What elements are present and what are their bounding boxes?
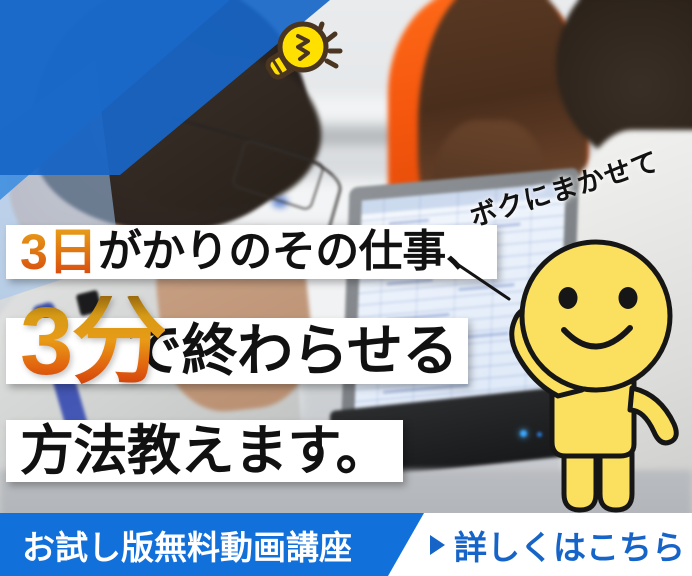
cta-link-label: 詳しくはこちら [454,521,685,569]
headline-line3-text: 方法教えます。 [20,424,389,478]
cta-badge-label[interactable]: お試し版無料動画講座 [22,513,352,576]
yellow-smiley-mascot [488,238,692,516]
headline-line2-rest: で終わらせる [126,323,458,379]
headline-line1-rest: がかりのその仕事、 [98,230,490,274]
cta-link[interactable]: 詳しくはこちら [430,513,685,576]
lightbulb-icon [256,6,348,86]
headline-line-1: 3日 がかりのその仕事、 [6,225,497,279]
cta-bar: お試し版無料動画講座 詳しくはこちら [0,513,692,576]
advertisement-banner: ボクにまかせて 3日 [0,0,692,576]
headline-accent-3minutes: 3分 [20,296,165,388]
play-triangle-icon [430,535,445,555]
headline-accent-3days: 3日 [20,227,98,277]
headline-line-3: 方法教えます。 [6,420,403,482]
